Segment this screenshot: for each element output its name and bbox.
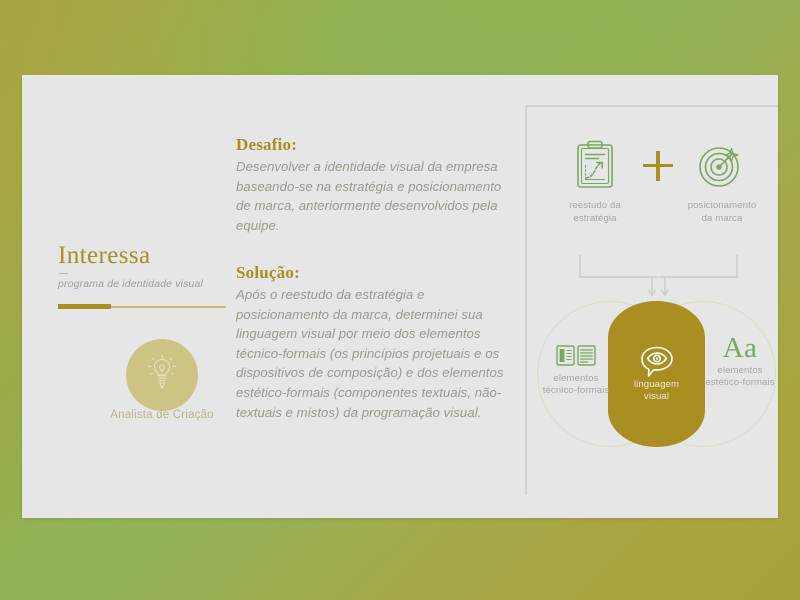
content-card: Interessa programa de identidade visual: [22, 75, 778, 518]
lightbulb-pencil-icon: [139, 350, 185, 401]
accent-rule: [58, 304, 226, 309]
diagram-frame-vertical-line: [525, 105, 527, 495]
section-solucao: Solução: Após o reestudo da estratégia e…: [236, 263, 508, 422]
page-title: Interessa: [58, 243, 150, 268]
section-desafio-body: Desenvolver a identidade visual da empre…: [236, 157, 508, 235]
venn-label-estetico-formais: Aa elementos estético-formais: [692, 331, 788, 390]
page-subtitle: programa de identidade visual: [58, 278, 203, 290]
eye-speech-bubble-icon: [608, 345, 705, 379]
section-desafio: Desafio: Desenvolver a identidade visual…: [236, 135, 508, 235]
diagram-input-posicionamento: posicionamento da marca: [674, 135, 770, 225]
section-solucao-heading: Solução:: [236, 263, 508, 283]
brand-column: Interessa programa de identidade visual: [38, 75, 238, 518]
diagram-inputs: reestudo da estratégia: [539, 135, 778, 255]
diagram-input-reestudo-label: reestudo da estratégia: [547, 200, 643, 225]
section-solucao-body: Após o reestudo da estratégia e posicion…: [236, 285, 508, 422]
plus-icon: [643, 151, 673, 181]
venn-label-linguagem-visual: linguagem visual: [608, 345, 705, 404]
section-desafio-heading: Desafio:: [236, 135, 508, 155]
diagram-input-posicionamento-label: posicionamento da marca: [674, 200, 770, 225]
aa-typography-icon: Aa: [692, 331, 788, 365]
target-arrow-icon: [674, 135, 770, 195]
accent-rule-dark: [58, 304, 111, 309]
diagram-column: reestudo da estratégia: [525, 105, 778, 525]
diagram-input-reestudo: reestudo da estratégia: [547, 135, 643, 225]
title-dash: [59, 273, 68, 274]
venn-diagram: elementos técnico-formais linguagem visu…: [535, 301, 778, 489]
diagram-frame-horizontal-line: [525, 105, 778, 107]
avatar: [126, 339, 198, 411]
slide-canvas: Interessa programa de identidade visual: [0, 0, 800, 600]
clipboard-chart-icon: [547, 135, 643, 195]
